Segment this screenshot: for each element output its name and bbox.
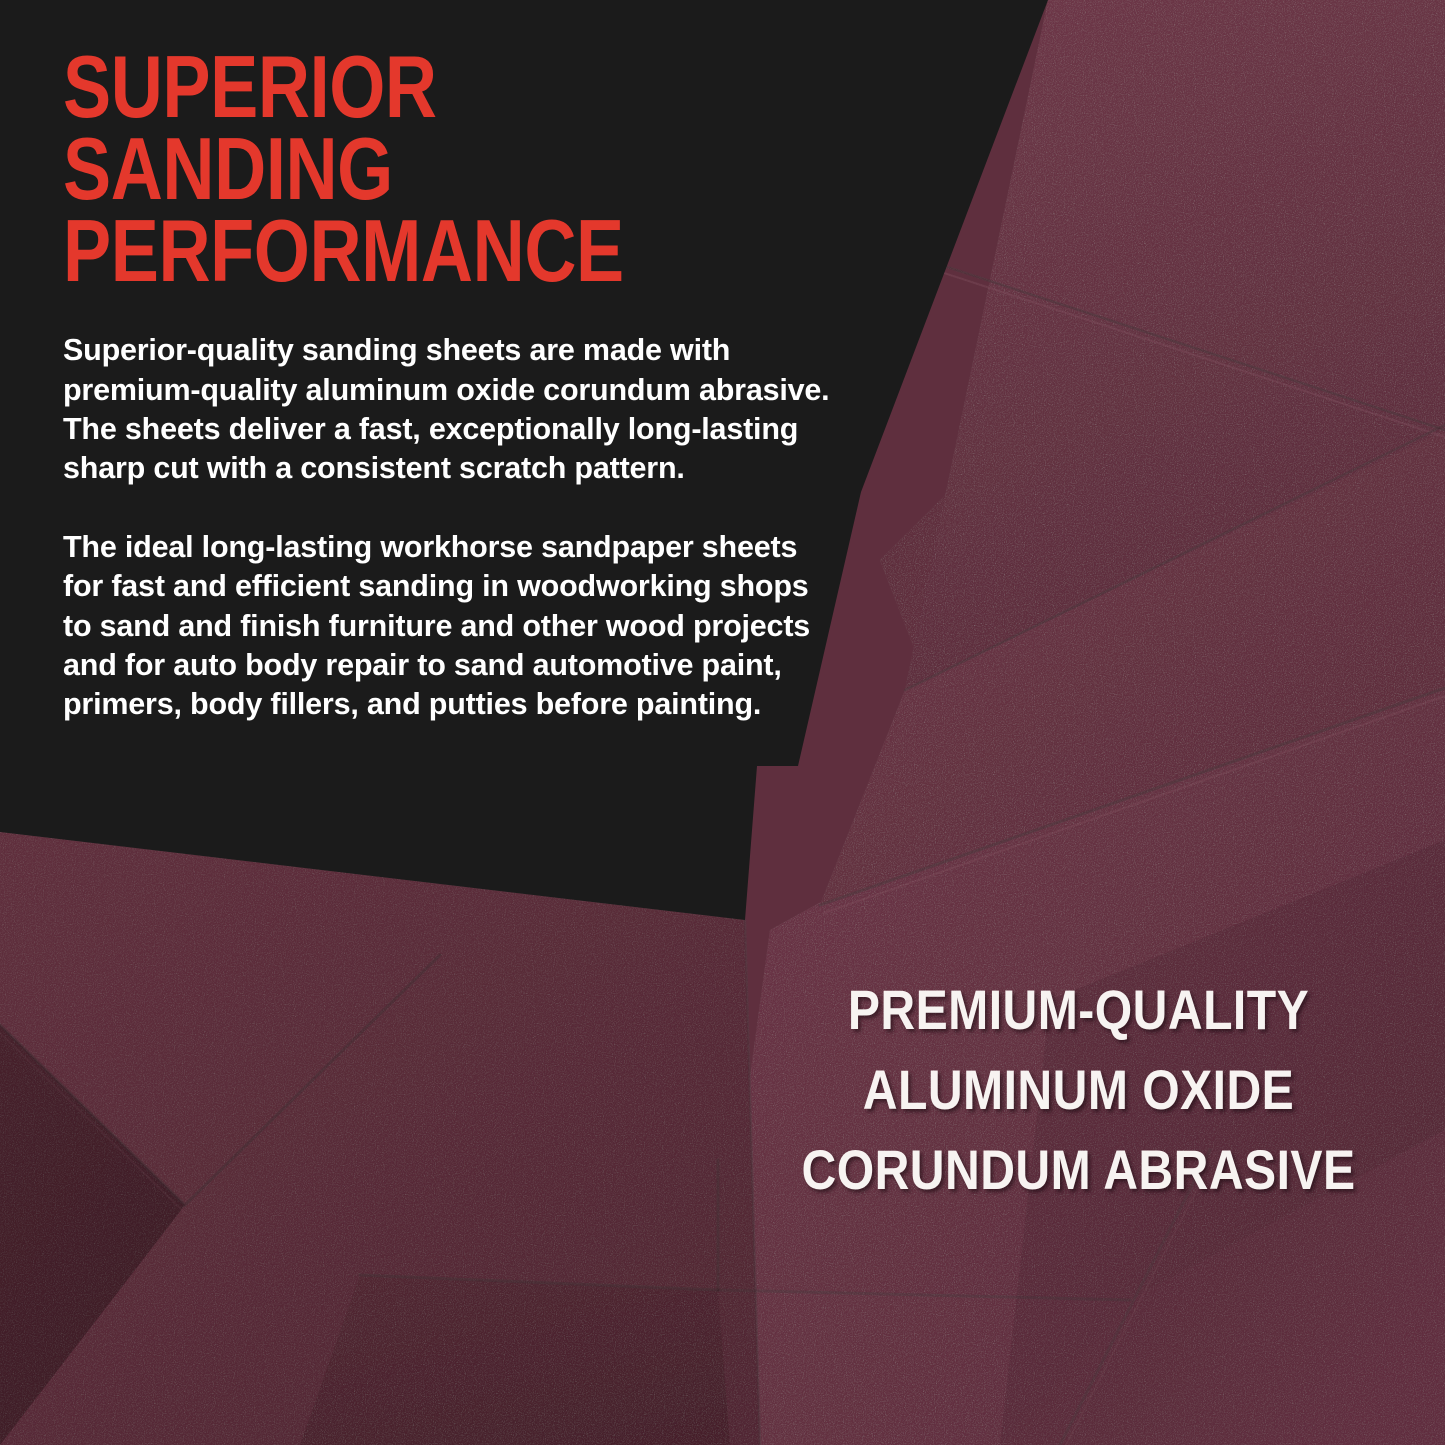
feature-callout-line-1: PREMIUM-QUALITY: [801, 970, 1356, 1050]
product-feature-banner: SUPERIOR SANDING PERFORMANCE Superior-qu…: [0, 0, 1445, 1445]
feature-callout-line-3: CORUNDUM ABRASIVE: [801, 1130, 1356, 1210]
description-paragraph-2: The ideal long-lasting workhorse sandpap…: [63, 528, 838, 724]
description-paragraph-1: Superior-quality sanding sheets are made…: [63, 331, 853, 488]
copy-column: SUPERIOR SANDING PERFORMANCE Superior-qu…: [63, 46, 863, 724]
feature-callout: PREMIUM-QUALITY ALUMINUM OXIDE CORUNDUM …: [756, 970, 1401, 1210]
feature-callout-line-2: ALUMINUM OXIDE: [801, 1050, 1356, 1130]
page-title: SUPERIOR SANDING PERFORMANCE: [63, 46, 719, 291]
